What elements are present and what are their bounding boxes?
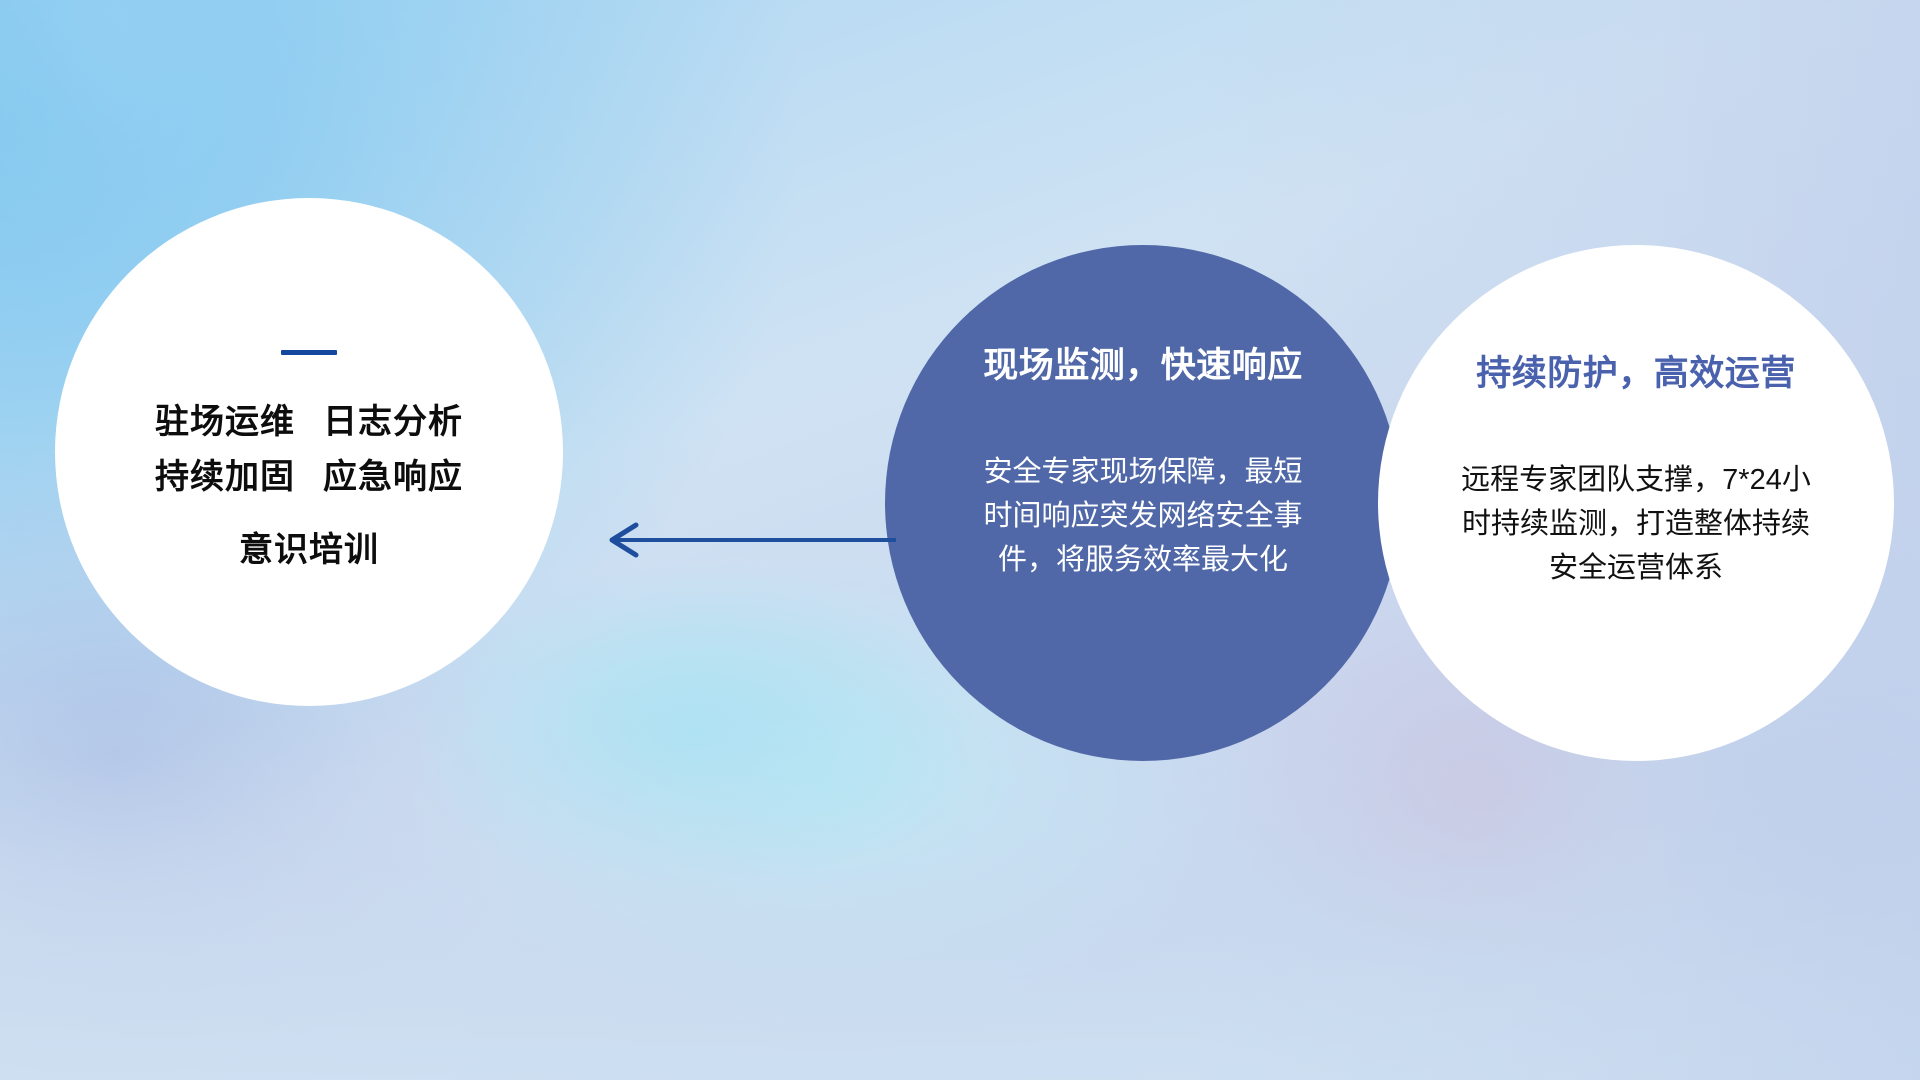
- keyword-item: 应急响应: [323, 458, 463, 496]
- onsite-monitoring-content: 现场监测，快速响应 安全专家现场保障，最短时间响应突发网络安全事件，将服务效率最…: [885, 245, 1401, 761]
- keyword-row: 驻场运维日志分析: [155, 395, 463, 450]
- keyword-item: 驻场运维: [155, 403, 295, 441]
- onsite-monitoring-body: 安全专家现场保障，最短时间响应突发网络安全事件，将服务效率最大化: [973, 450, 1313, 582]
- keyword-row: 持续加固应急响应: [155, 450, 463, 505]
- onsite-monitoring-circle: 现场监测，快速响应 安全专家现场保障，最短时间响应突发网络安全事件，将服务效率最…: [885, 245, 1401, 761]
- keyword-item: 意识培训: [239, 531, 379, 569]
- horizontal-dash-divider-icon: [281, 350, 337, 355]
- continuous-protection-body: 远程专家团队支撑，7*24小时持续监测，打造整体持续安全运营体系: [1456, 458, 1816, 590]
- service-keywords-list: 驻场运维日志分析 持续加固应急响应 意识培训: [155, 395, 463, 578]
- keyword-item: 持续加固: [155, 458, 295, 496]
- keyword-item: 日志分析: [323, 403, 463, 441]
- keyword-row: 意识培训: [155, 523, 463, 578]
- slide-canvas: 驻场运维日志分析 持续加固应急响应 意识培训 现场监测，快速响应 安全专家现场保…: [0, 0, 1920, 1080]
- continuous-protection-content: 持续防护，高效运营 远程专家团队支撑，7*24小时持续监测，打造整体持续安全运营…: [1378, 245, 1894, 761]
- continuous-protection-title: 持续防护，高效运营: [1476, 345, 1796, 396]
- arrow-left-icon: [598, 516, 898, 564]
- continuous-protection-circle: 持续防护，高效运营 远程专家团队支撑，7*24小时持续监测，打造整体持续安全运营…: [1378, 245, 1894, 761]
- onsite-monitoring-title: 现场监测，快速响应: [983, 337, 1303, 388]
- service-keywords-circle: 驻场运维日志分析 持续加固应急响应 意识培训: [55, 198, 563, 706]
